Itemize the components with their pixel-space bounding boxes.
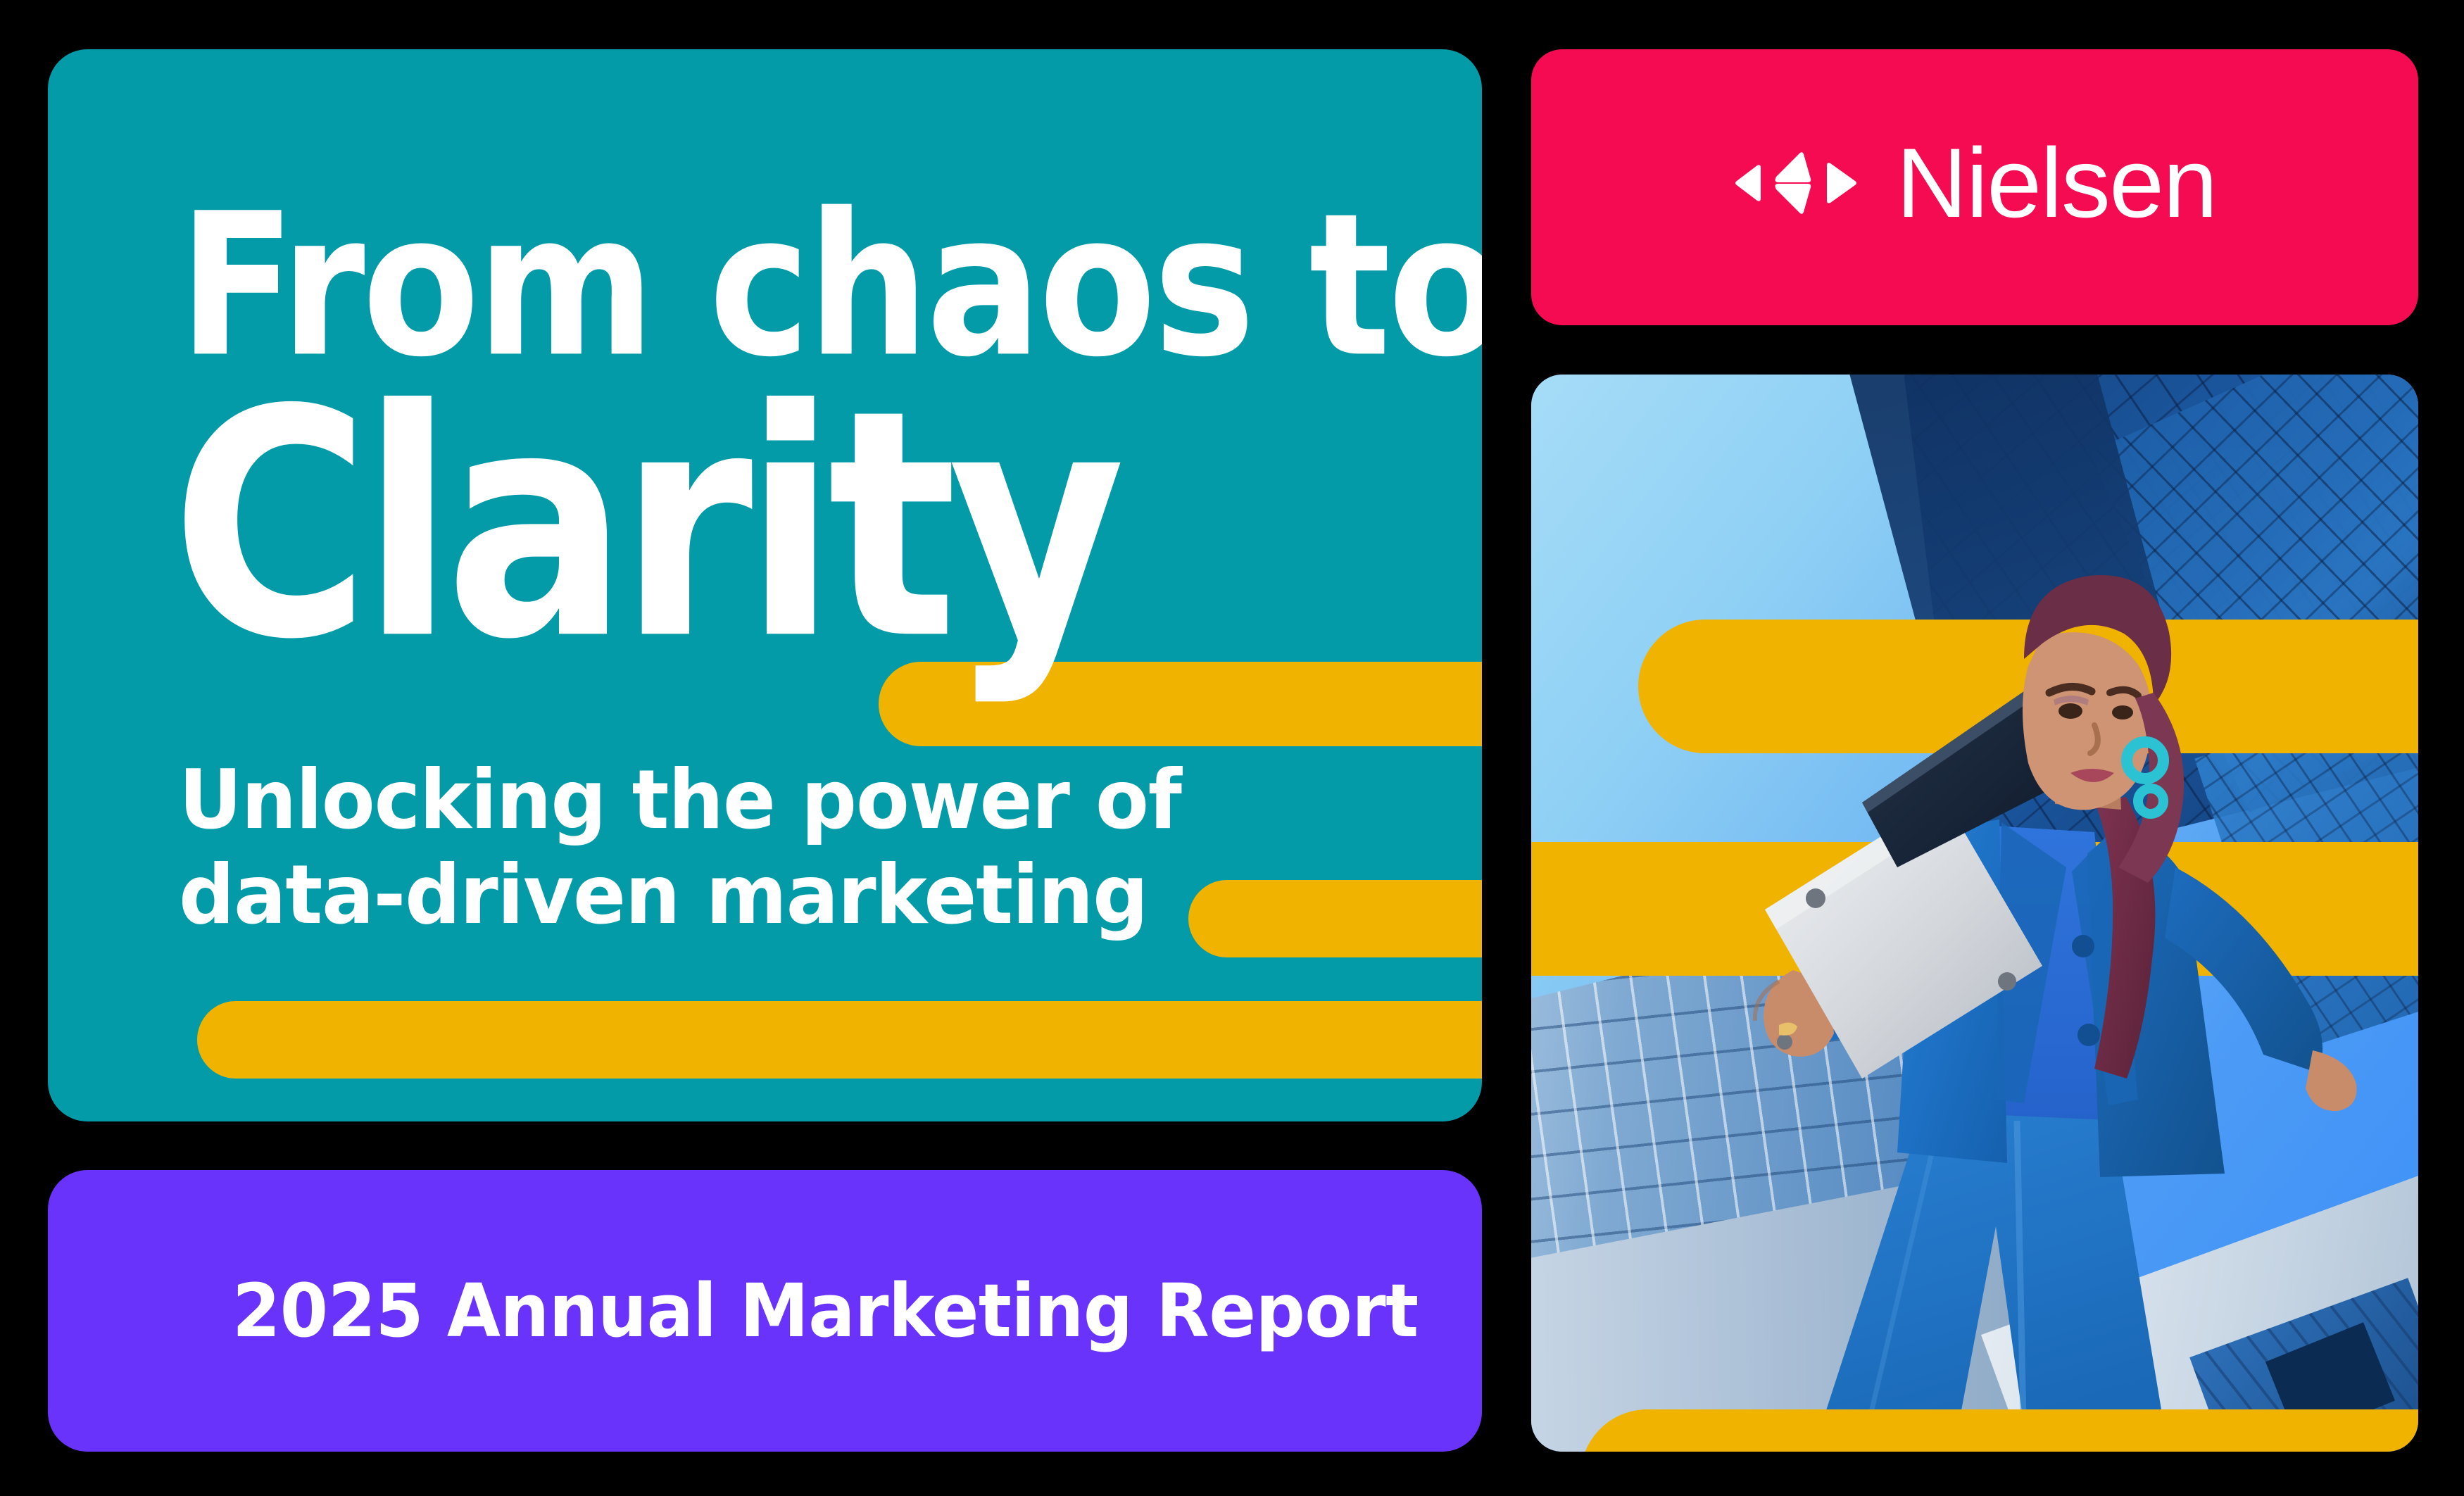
accent-bar-mid	[1188, 880, 1482, 957]
nielsen-wordmark: Nielsen	[1896, 134, 2216, 232]
report-banner-label: 2025 Annual Marketing Report	[232, 1268, 1419, 1354]
photo-accent-stripe-3	[1580, 1409, 2418, 1452]
hero-panel: From chaos to Clarity Unlocking the powe…	[48, 49, 1482, 1121]
hero-subtitle: Unlocking the power of data-driven marke…	[179, 753, 1181, 943]
nielsen-arrows-icon	[1733, 144, 1859, 222]
brand-panel: Nielsen	[1531, 49, 2418, 325]
hero-photo	[1531, 375, 2418, 1452]
accent-bar-bottom	[197, 1001, 1482, 1079]
photo-subject	[1531, 375, 2418, 1452]
hero-subtitle-line-2: data-driven marketing	[179, 848, 1181, 943]
report-banner: 2025 Annual Marketing Report	[48, 1170, 1482, 1452]
headline-line-2: Clarity	[171, 370, 1117, 683]
hero-subtitle-line-1: Unlocking the power of	[179, 753, 1181, 848]
poster-canvas: From chaos to Clarity Unlocking the powe…	[0, 0, 2464, 1496]
nielsen-logo-lockup: Nielsen	[1733, 134, 2216, 232]
photo-composition	[1531, 375, 2418, 1452]
